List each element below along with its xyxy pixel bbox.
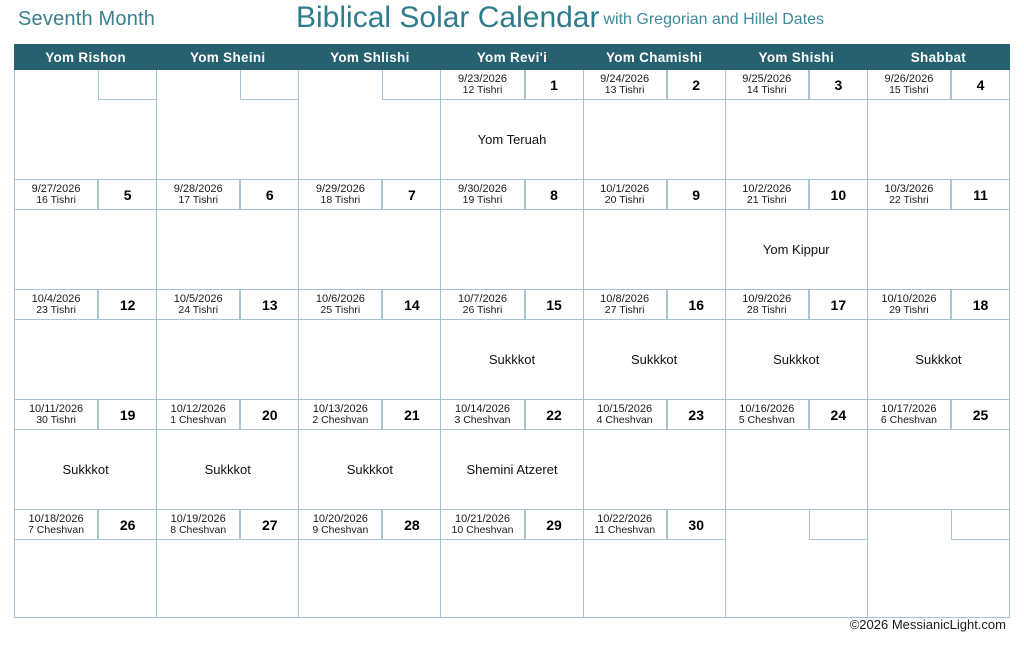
hillel-date: 12 Tishri: [463, 85, 503, 97]
calendar-week-row: 10/18/20267 Cheshvan2610/19/20268 Cheshv…: [15, 510, 1010, 618]
day-cell-header: 10/3/202622 Tishri11: [868, 180, 1009, 210]
hillel-date: 4 Cheshvan: [597, 415, 653, 427]
calendar-day-cell[interactable]: 10/21/202610 Cheshvan29: [441, 510, 583, 618]
date-box: 9/30/202619 Tishri: [441, 180, 524, 210]
hillel-date: 3 Cheshvan: [454, 415, 510, 427]
hillel-date: 10 Cheshvan: [452, 525, 514, 537]
calendar-body: 9/23/202612 Tishri1Yom Teruah9/24/202613…: [15, 70, 1010, 618]
day-cell-header: 9/25/202614 Tishri3: [726, 70, 867, 100]
date-box: 9/28/202617 Tishri: [157, 180, 240, 210]
day-number-box: 23: [667, 400, 725, 430]
date-box: 10/20/20269 Cheshvan: [299, 510, 382, 540]
calendar-day-cell[interactable]: 9/29/202618 Tishri7: [299, 180, 441, 290]
day-number-box: 7: [382, 180, 440, 210]
day-number-box: 28: [382, 510, 440, 540]
day-number-box: 10: [809, 180, 867, 210]
hillel-date: 15 Tishri: [889, 85, 929, 97]
date-box: 10/14/20263 Cheshvan: [441, 400, 524, 430]
calendar-day-cell[interactable]: 10/15/20264 Cheshvan23: [583, 400, 725, 510]
day-cell-header: 10/10/202629 Tishri18: [868, 290, 1009, 320]
day-cell-header: 9/28/202617 Tishri6: [157, 180, 298, 210]
calendar-day-cell[interactable]: 9/28/202617 Tishri6: [157, 180, 299, 290]
day-number-box: 17: [809, 290, 867, 320]
day-number-box: 1: [525, 70, 583, 100]
date-box: 10/8/202627 Tishri: [584, 290, 667, 320]
calendar-day-cell[interactable]: 9/26/202615 Tishri4: [867, 70, 1009, 180]
day-cell-header: 10/7/202626 Tishri15: [441, 290, 582, 320]
date-box: 10/13/20262 Cheshvan: [299, 400, 382, 430]
day-number-box: 20: [240, 400, 298, 430]
calendar-week-row: 10/4/202623 Tishri1210/5/202624 Tishri13…: [15, 290, 1010, 400]
calendar-day-cell[interactable]: 10/11/202630 Tishri19Sukkkot: [15, 400, 157, 510]
date-box: [157, 70, 240, 100]
day-cell-header: 10/20/20269 Cheshvan28: [299, 510, 440, 540]
day-number-box: 12: [98, 290, 156, 320]
date-box: 9/25/202614 Tishri: [726, 70, 809, 100]
day-cell-header: 10/2/202621 Tishri10: [726, 180, 867, 210]
calendar-day-cell[interactable]: 10/2/202621 Tishri10Yom Kippur: [725, 180, 867, 290]
date-box: 10/15/20264 Cheshvan: [584, 400, 667, 430]
hillel-date: 18 Tishri: [321, 195, 361, 207]
day-event-label: Sukkkot: [157, 462, 298, 477]
calendar-day-cell[interactable]: 10/4/202623 Tishri12: [15, 290, 157, 400]
hillel-date: 22 Tishri: [889, 195, 929, 207]
calendar-day-cell[interactable]: 10/3/202622 Tishri11: [867, 180, 1009, 290]
hillel-date: 29 Tishri: [889, 305, 929, 317]
date-box: 10/6/202625 Tishri: [299, 290, 382, 320]
calendar-day-cell[interactable]: 10/22/202611 Cheshvan30: [583, 510, 725, 618]
calendar-day-cell[interactable]: 10/20/20269 Cheshvan28: [299, 510, 441, 618]
date-box: [15, 70, 98, 100]
day-number-box: [809, 510, 867, 540]
hillel-date: 7 Cheshvan: [28, 525, 84, 537]
hillel-date: 23 Tishri: [36, 305, 76, 317]
hillel-date: 2 Cheshvan: [312, 415, 368, 427]
day-number-box: [240, 70, 298, 100]
date-box: [868, 510, 951, 540]
calendar-day-cell[interactable]: 10/12/20261 Cheshvan20Sukkkot: [157, 400, 299, 510]
calendar-day-cell[interactable]: 10/19/20268 Cheshvan27: [157, 510, 299, 618]
hillel-date: 16 Tishri: [36, 195, 76, 207]
day-number-box: 21: [382, 400, 440, 430]
day-number-box: 29: [525, 510, 583, 540]
day-cell-header: 9/29/202618 Tishri7: [299, 180, 440, 210]
day-cell-header: 10/16/20265 Cheshvan24: [726, 400, 867, 430]
calendar-day-cell[interactable]: 10/1/202620 Tishri9: [583, 180, 725, 290]
day-cell-header: 10/4/202623 Tishri12: [15, 290, 156, 320]
day-cell-header: 9/26/202615 Tishri4: [868, 70, 1009, 100]
date-box: 9/27/202616 Tishri: [15, 180, 98, 210]
hillel-date: 20 Tishri: [605, 195, 645, 207]
day-number-box: 22: [525, 400, 583, 430]
date-box: [299, 70, 382, 100]
day-cell-header: 10/13/20262 Cheshvan21: [299, 400, 440, 430]
date-box: 10/21/202610 Cheshvan: [441, 510, 524, 540]
calendar-day-cell[interactable]: 10/16/20265 Cheshvan24: [725, 400, 867, 510]
day-event-label: Shemini Atzeret: [441, 462, 582, 477]
date-box: 9/29/202618 Tishri: [299, 180, 382, 210]
calendar-day-cell[interactable]: 10/18/20267 Cheshvan26: [15, 510, 157, 618]
hillel-date: 21 Tishri: [747, 195, 787, 207]
date-box: 10/3/202622 Tishri: [868, 180, 951, 210]
day-number-box: 16: [667, 290, 725, 320]
day-event-label: Yom Teruah: [441, 132, 582, 147]
hillel-date: 6 Cheshvan: [881, 415, 937, 427]
calendar-day-cell[interactable]: 10/6/202625 Tishri14: [299, 290, 441, 400]
day-number-box: 24: [809, 400, 867, 430]
day-cell-header: 9/23/202612 Tishri1: [441, 70, 582, 100]
weekday-header-5: Yom Shishi: [725, 45, 867, 70]
date-box: 9/26/202615 Tishri: [868, 70, 951, 100]
day-number-box: 4: [951, 70, 1009, 100]
day-number-box: 18: [951, 290, 1009, 320]
hillel-date: 27 Tishri: [605, 305, 645, 317]
weekday-header-4: Yom Chamishi: [583, 45, 725, 70]
day-event-label: Sukkkot: [299, 462, 440, 477]
calendar-week-row: 9/27/202616 Tishri59/28/202617 Tishri69/…: [15, 180, 1010, 290]
date-box: 10/22/202611 Cheshvan: [584, 510, 667, 540]
day-cell-header: [15, 70, 156, 100]
day-cell-header: 10/9/202628 Tishri17: [726, 290, 867, 320]
hillel-date: 1 Cheshvan: [170, 415, 226, 427]
day-number-box: 26: [98, 510, 156, 540]
weekday-header-0: Yom Rishon: [15, 45, 157, 70]
calendar-day-cell[interactable]: 10/14/20263 Cheshvan22Shemini Atzeret: [441, 400, 583, 510]
page-header: Seventh Month Biblical Solar Calendarwit…: [0, 0, 1024, 44]
calendar-empty-cell: [15, 70, 157, 180]
day-number-box: 11: [951, 180, 1009, 210]
date-box: 10/16/20265 Cheshvan: [726, 400, 809, 430]
calendar-empty-cell: [725, 510, 867, 618]
calendar-week-row: 9/23/202612 Tishri1Yom Teruah9/24/202613…: [15, 70, 1010, 180]
calendar-day-cell[interactable]: 10/13/20262 Cheshvan21Sukkkot: [299, 400, 441, 510]
day-cell-header: [868, 510, 1009, 540]
hillel-date: 9 Cheshvan: [312, 525, 368, 537]
day-cell-header: 10/6/202625 Tishri14: [299, 290, 440, 320]
day-number-box: 30: [667, 510, 725, 540]
day-cell-header: 10/14/20263 Cheshvan22: [441, 400, 582, 430]
day-cell-header: 10/17/20266 Cheshvan25: [868, 400, 1009, 430]
footer-copyright: ©2026 MessianicLight.com: [850, 617, 1006, 632]
day-cell-header: 10/5/202624 Tishri13: [157, 290, 298, 320]
date-box: 10/17/20266 Cheshvan: [868, 400, 951, 430]
hillel-date: 26 Tishri: [463, 305, 503, 317]
day-number-box: 6: [240, 180, 298, 210]
date-box: 9/23/202612 Tishri: [441, 70, 524, 100]
day-cell-header: 10/12/20261 Cheshvan20: [157, 400, 298, 430]
calendar-day-cell[interactable]: 9/23/202612 Tishri1Yom Teruah: [441, 70, 583, 180]
date-box: 9/24/202613 Tishri: [584, 70, 667, 100]
hillel-date: 28 Tishri: [747, 305, 787, 317]
calendar-day-cell[interactable]: 10/5/202624 Tishri13: [157, 290, 299, 400]
hillel-date: 8 Cheshvan: [170, 525, 226, 537]
hillel-date: 17 Tishri: [178, 195, 218, 207]
calendar-empty-cell: [867, 510, 1009, 618]
calendar-empty-cell: [157, 70, 299, 180]
weekday-header-6: Shabbat: [867, 45, 1009, 70]
day-number-box: 27: [240, 510, 298, 540]
calendar-page: Seventh Month Biblical Solar Calendarwit…: [0, 0, 1024, 645]
calendar-day-cell[interactable]: 9/30/202619 Tishri8: [441, 180, 583, 290]
hillel-date: 24 Tishri: [178, 305, 218, 317]
day-cell-header: 10/22/202611 Cheshvan30: [584, 510, 725, 540]
month-label: Seventh Month: [18, 8, 155, 31]
calendar-day-cell[interactable]: 10/17/20266 Cheshvan25: [867, 400, 1009, 510]
day-number-box: 13: [240, 290, 298, 320]
hillel-date: 30 Tishri: [36, 415, 76, 427]
day-number-box: 3: [809, 70, 867, 100]
day-number-box: 8: [525, 180, 583, 210]
day-cell-header: 10/8/202627 Tishri16: [584, 290, 725, 320]
weekday-header-3: Yom Revi'i: [441, 45, 583, 70]
day-cell-header: 9/24/202613 Tishri2: [584, 70, 725, 100]
day-number-box: 19: [98, 400, 156, 430]
date-box: 10/4/202623 Tishri: [15, 290, 98, 320]
hillel-date: 19 Tishri: [463, 195, 503, 207]
page-title-sub: with Gregorian and Hillel Dates: [604, 11, 825, 28]
hillel-date: 14 Tishri: [747, 85, 787, 97]
calendar-day-cell[interactable]: 9/27/202616 Tishri5: [15, 180, 157, 290]
day-cell-header: [299, 70, 440, 100]
day-cell-header: 10/11/202630 Tishri19: [15, 400, 156, 430]
date-box: 10/2/202621 Tishri: [726, 180, 809, 210]
calendar-empty-cell: [299, 70, 441, 180]
day-event-label: Sukkkot: [15, 462, 156, 477]
day-cell-header: 10/21/202610 Cheshvan29: [441, 510, 582, 540]
day-cell-header: [726, 510, 867, 540]
calendar-table: Yom Rishon Yom Sheini Yom Shlishi Yom Re…: [14, 44, 1010, 618]
date-box: 10/12/20261 Cheshvan: [157, 400, 240, 430]
hillel-date: 5 Cheshvan: [739, 415, 795, 427]
day-cell-header: 10/19/20268 Cheshvan27: [157, 510, 298, 540]
calendar-day-cell[interactable]: 10/9/202628 Tishri17Sukkkot: [725, 290, 867, 400]
date-box: 10/10/202629 Tishri: [868, 290, 951, 320]
date-box: 10/7/202626 Tishri: [441, 290, 524, 320]
day-event-label: Sukkkot: [868, 352, 1009, 367]
day-number-box: 14: [382, 290, 440, 320]
hillel-date: 13 Tishri: [605, 85, 645, 97]
day-event-label: Sukkkot: [726, 352, 867, 367]
day-number-box: [951, 510, 1009, 540]
date-box: [726, 510, 809, 540]
date-box: 10/11/202630 Tishri: [15, 400, 98, 430]
day-cell-header: [157, 70, 298, 100]
calendar-grid-wrapper: Yom Rishon Yom Sheini Yom Shlishi Yom Re…: [14, 44, 1010, 618]
date-box: 10/9/202628 Tishri: [726, 290, 809, 320]
date-box: 10/1/202620 Tishri: [584, 180, 667, 210]
day-number-box: 9: [667, 180, 725, 210]
page-title: Biblical Solar Calendarwith Gregorian an…: [296, 1, 824, 35]
calendar-day-cell[interactable]: 10/7/202626 Tishri15Sukkkot: [441, 290, 583, 400]
day-cell-header: 10/18/20267 Cheshvan26: [15, 510, 156, 540]
page-title-main: Biblical Solar Calendar: [296, 1, 600, 34]
day-number-box: 2: [667, 70, 725, 100]
weekday-header-2: Yom Shlishi: [299, 45, 441, 70]
day-event-label: Sukkkot: [441, 352, 582, 367]
day-number-box: 25: [951, 400, 1009, 430]
day-event-label: Sukkkot: [584, 352, 725, 367]
day-cell-header: 10/1/202620 Tishri9: [584, 180, 725, 210]
calendar-week-row: 10/11/202630 Tishri19Sukkkot10/12/20261 …: [15, 400, 1010, 510]
day-cell-header: 10/15/20264 Cheshvan23: [584, 400, 725, 430]
date-box: 10/5/202624 Tishri: [157, 290, 240, 320]
calendar-day-cell[interactable]: 10/10/202629 Tishri18Sukkkot: [867, 290, 1009, 400]
calendar-day-cell[interactable]: 9/24/202613 Tishri2: [583, 70, 725, 180]
date-box: 10/19/20268 Cheshvan: [157, 510, 240, 540]
weekday-header-1: Yom Sheini: [157, 45, 299, 70]
hillel-date: 25 Tishri: [321, 305, 361, 317]
day-number-box: [98, 70, 156, 100]
day-event-label: Yom Kippur: [726, 242, 867, 257]
day-number-box: 5: [98, 180, 156, 210]
calendar-day-cell[interactable]: 9/25/202614 Tishri3: [725, 70, 867, 180]
hillel-date: 11 Cheshvan: [594, 525, 655, 537]
day-cell-header: 9/30/202619 Tishri8: [441, 180, 582, 210]
date-box: 10/18/20267 Cheshvan: [15, 510, 98, 540]
day-number-box: [382, 70, 440, 100]
day-cell-header: 9/27/202616 Tishri5: [15, 180, 156, 210]
calendar-day-cell[interactable]: 10/8/202627 Tishri16Sukkkot: [583, 290, 725, 400]
day-number-box: 15: [525, 290, 583, 320]
weekday-header-row: Yom Rishon Yom Sheini Yom Shlishi Yom Re…: [15, 45, 1010, 70]
